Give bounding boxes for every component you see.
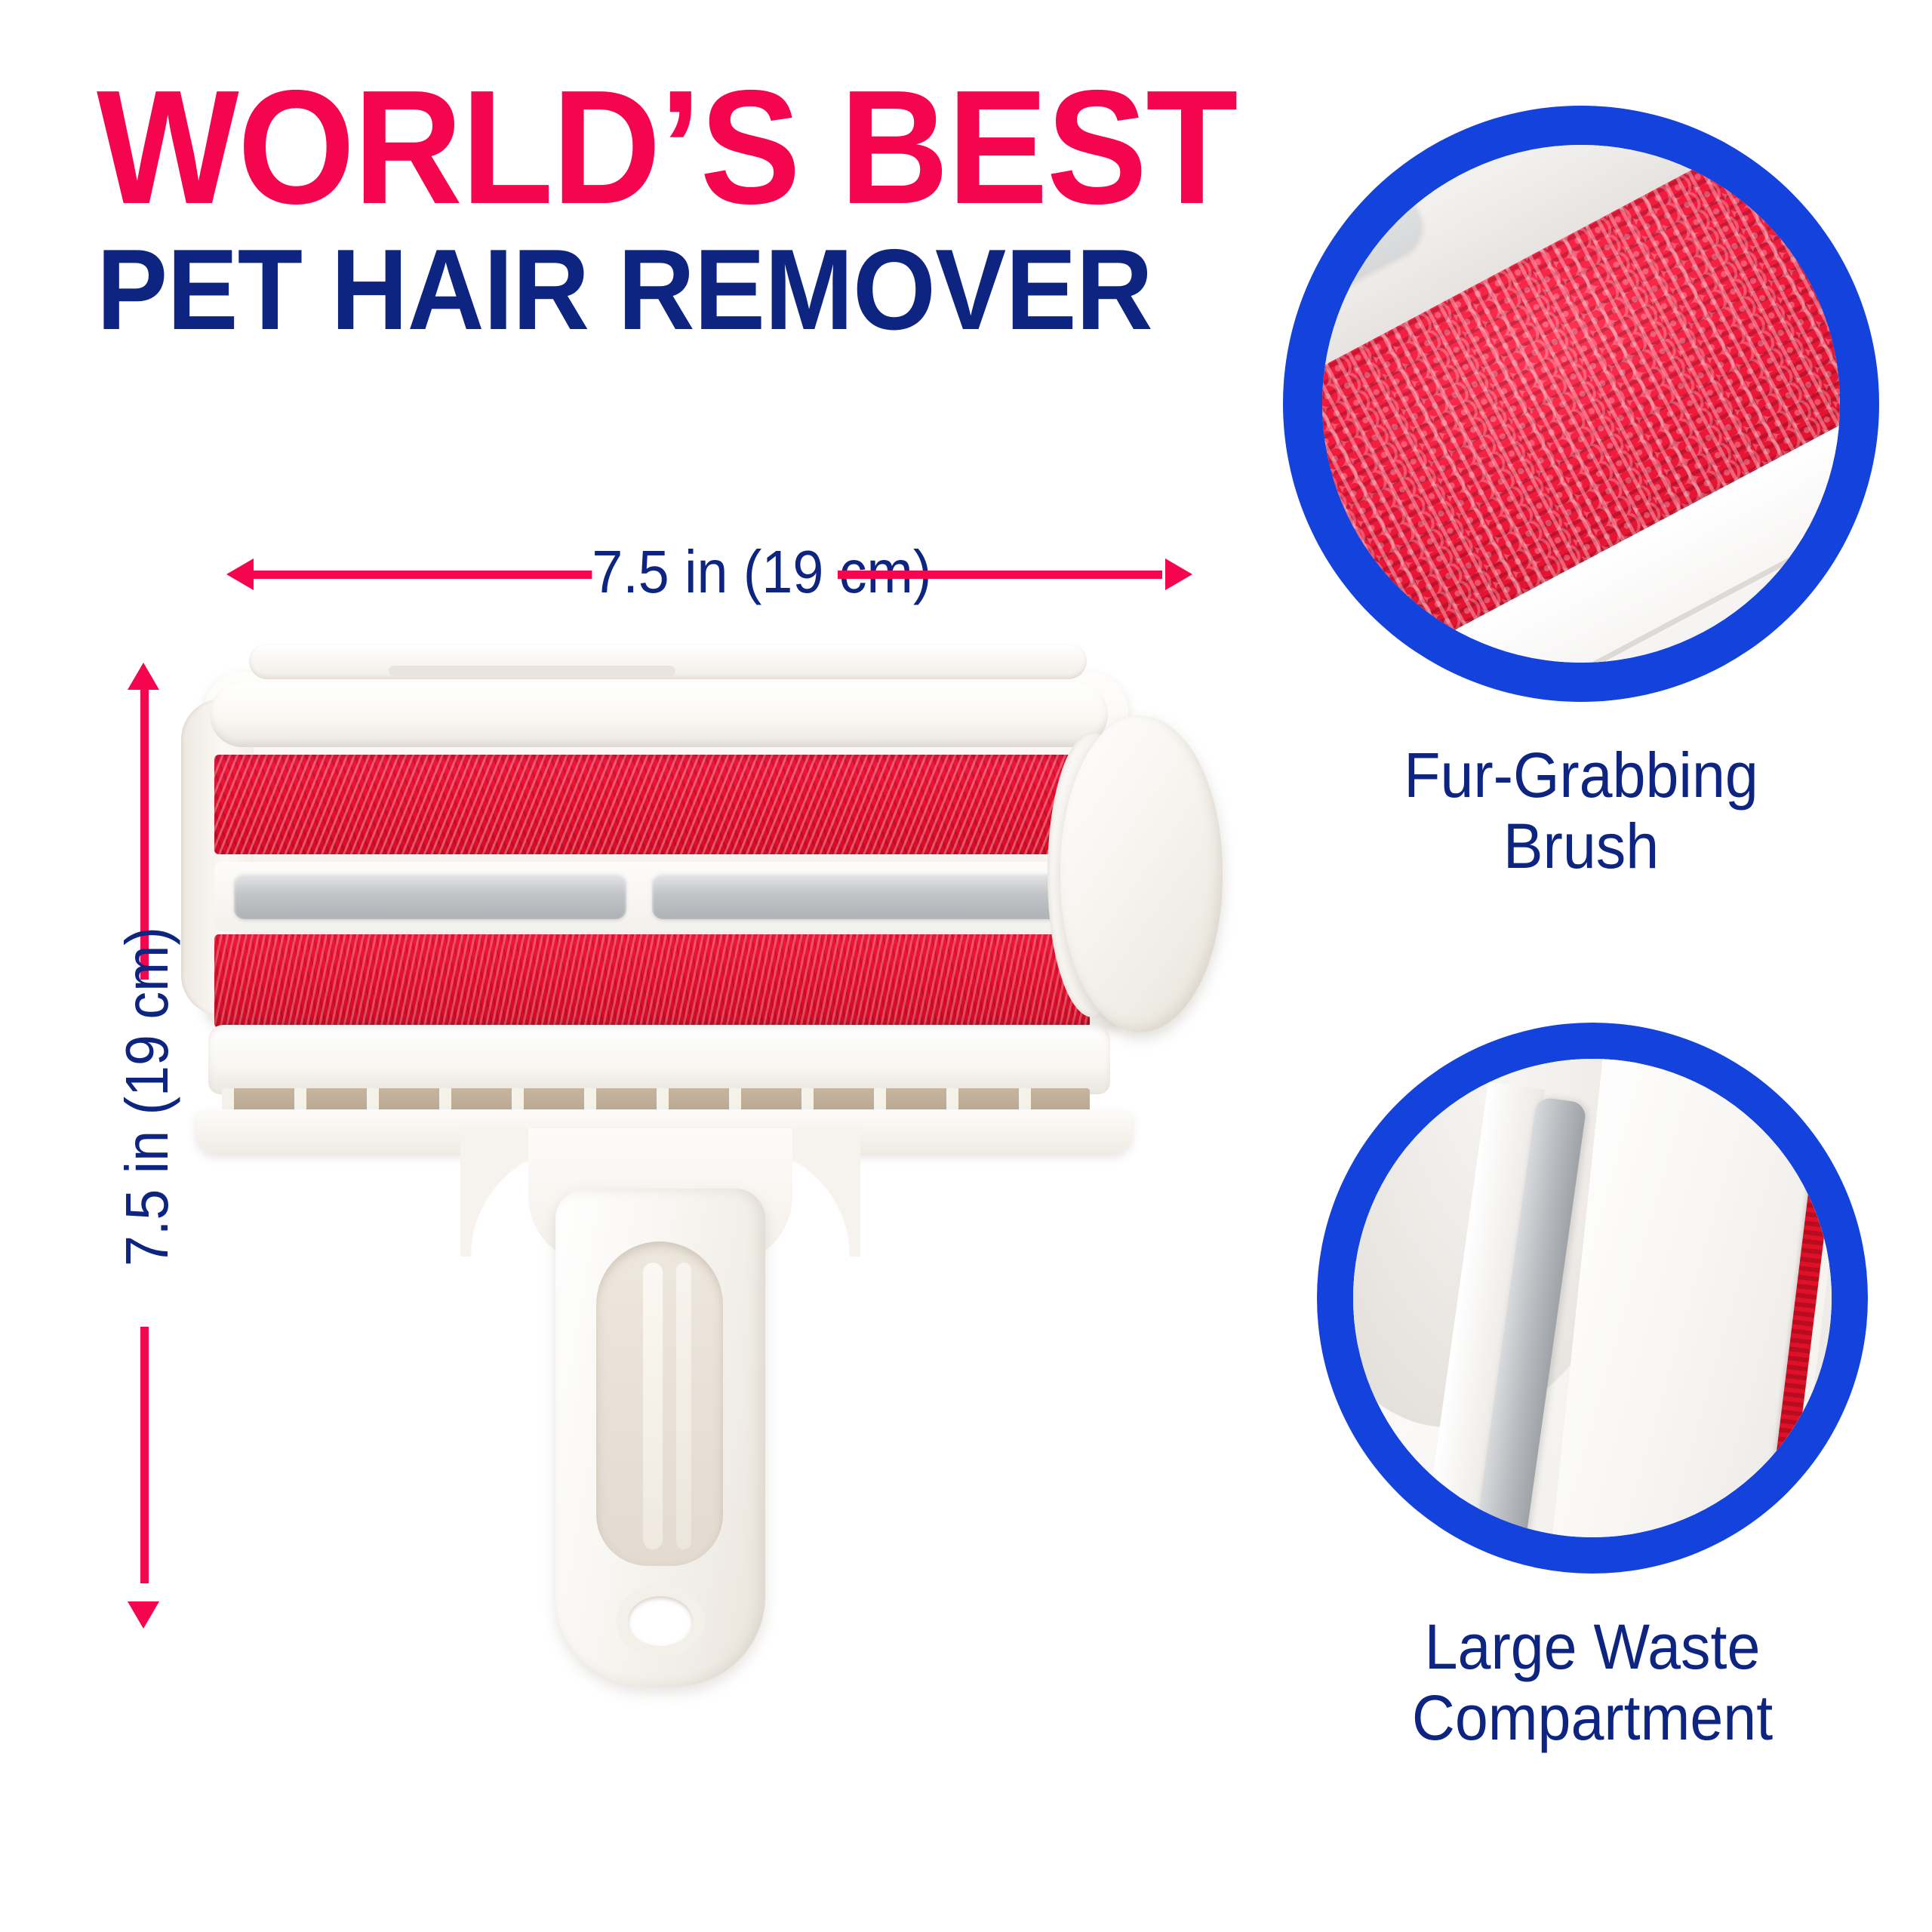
width-dimension: 7.5 in (19 cm) xyxy=(226,548,1192,601)
compartment-closeup-image xyxy=(1353,1059,1832,1537)
roller-lid-bar xyxy=(210,682,1108,747)
inset-1-caption-line1: Fur-Grabbing xyxy=(1301,740,1862,811)
arrow-left-shaft-icon xyxy=(248,571,617,579)
scraper-bar-left xyxy=(234,872,626,919)
arrow-down-shaft-icon xyxy=(140,1327,149,1583)
headline-primary: WORLD’S BEST xyxy=(97,72,1107,222)
scraper-row xyxy=(214,862,1090,931)
inset-photo-brush xyxy=(1322,145,1840,663)
brush-closeup-image xyxy=(1322,145,1840,663)
width-dimension-label: 7.5 in (19 cm) xyxy=(592,537,841,607)
roller-bottom-lip xyxy=(208,1025,1110,1094)
brush-band-lower xyxy=(214,934,1090,1028)
inset-2-caption: Large Waste Compartment xyxy=(1334,1611,1851,1753)
inset-2-caption-line2: Compartment xyxy=(1334,1682,1851,1753)
inset-2-caption-line1: Large Waste xyxy=(1334,1611,1851,1682)
handle-rib-2 xyxy=(676,1263,691,1549)
scraper-bar-right xyxy=(652,872,1060,919)
height-dimension: 7.5 in (19 cm) xyxy=(117,663,171,1629)
product-handle xyxy=(528,1128,792,1702)
arrow-right-head-icon xyxy=(1165,558,1192,590)
product-photo xyxy=(181,626,1238,1721)
handle-rib-1 xyxy=(643,1263,663,1549)
headline-block: WORLD’S BEST PET HAIR REMOVER xyxy=(97,72,1183,347)
inset-fur-grabbing-brush: Fur-Grabbing Brush xyxy=(1283,106,1879,702)
infographic-canvas: WORLD’S BEST PET HAIR REMOVER 7.5 in (19… xyxy=(0,0,1932,1932)
roller-end-cap xyxy=(1060,715,1223,1032)
brush-band-upper xyxy=(214,755,1090,854)
inset-photo-compartment xyxy=(1353,1059,1832,1537)
roller-top-rail xyxy=(249,643,1087,679)
arrow-right-shaft-icon xyxy=(838,571,1162,579)
inset-1-caption: Fur-Grabbing Brush xyxy=(1301,740,1862,881)
roller-top-notch xyxy=(389,666,675,676)
inset-large-waste-compartment: Large Waste Compartment xyxy=(1317,1023,1868,1574)
arrow-down-head-icon xyxy=(128,1601,159,1629)
compartment-curve xyxy=(1353,1355,1578,1537)
headline-secondary: PET HAIR REMOVER xyxy=(97,232,1107,347)
handle-hang-hole xyxy=(628,1596,693,1646)
inset-1-caption-line2: Brush xyxy=(1301,811,1862,881)
height-dimension-label: 7.5 in (19 cm) xyxy=(112,989,182,1266)
